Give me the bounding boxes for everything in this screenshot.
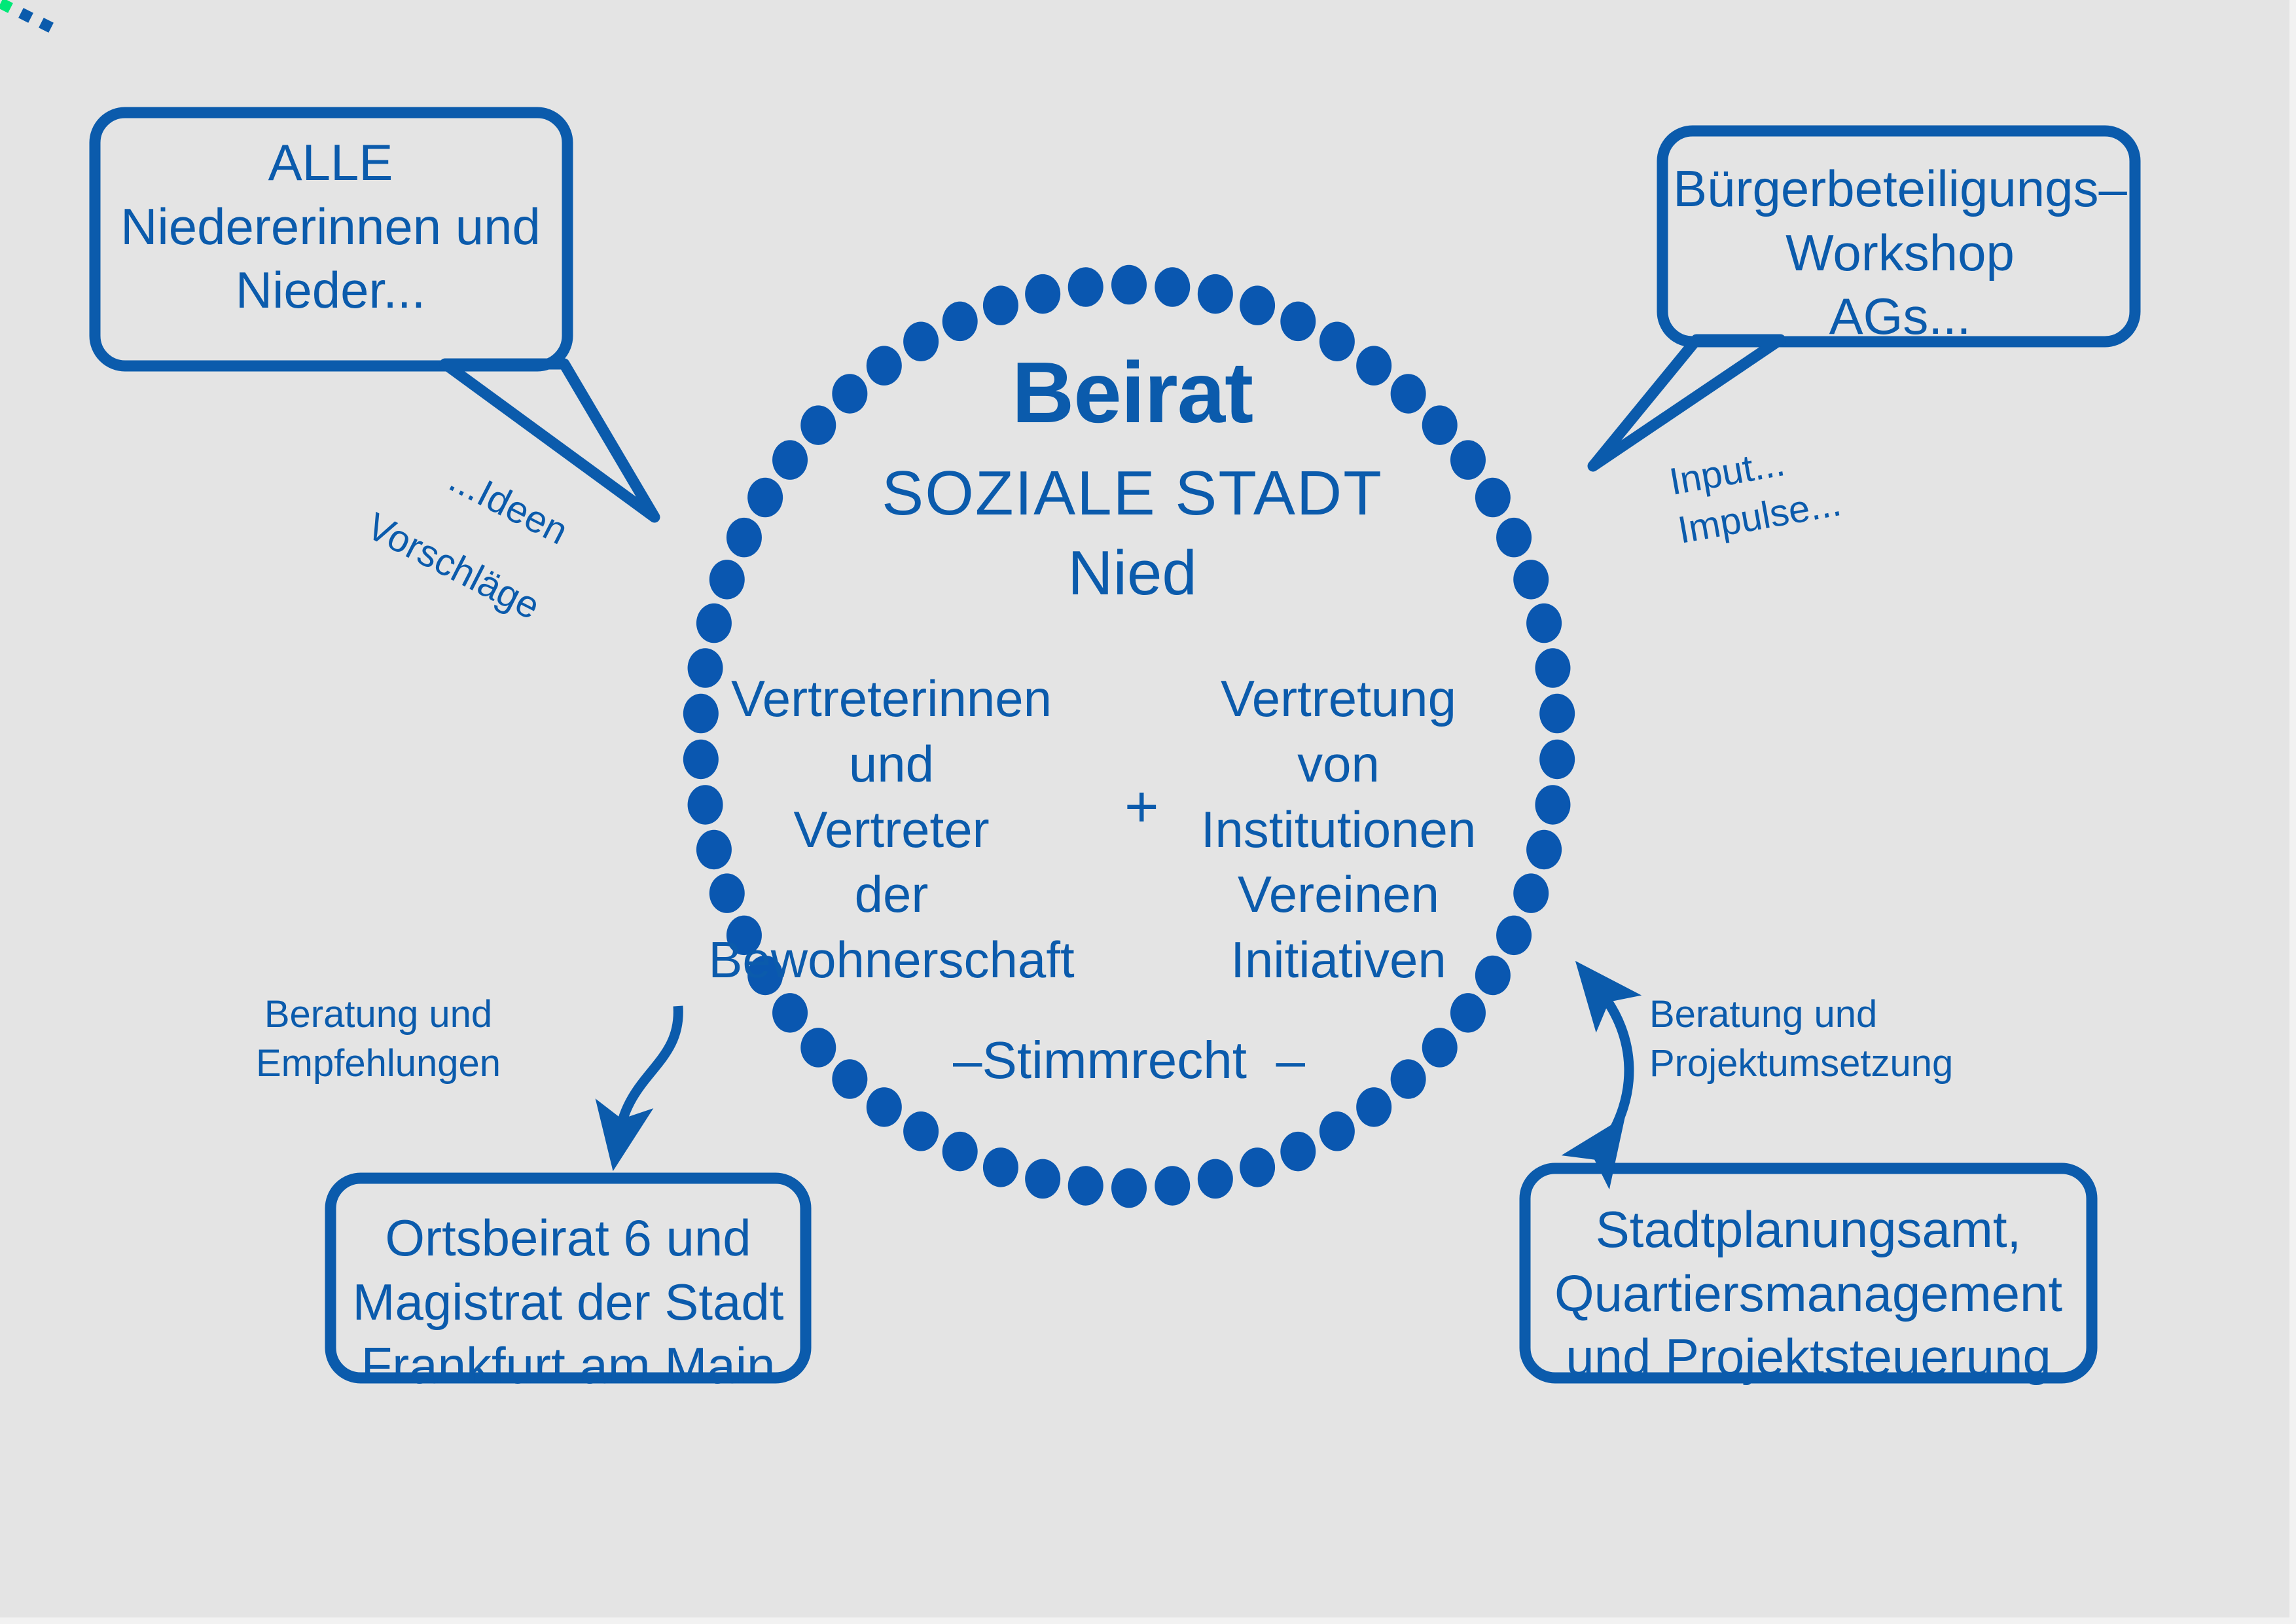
program-subtitle: SOZIALE STADT bbox=[882, 458, 1383, 529]
circle-dot bbox=[1391, 374, 1426, 413]
circle-dot bbox=[1535, 785, 1570, 824]
circle-dot bbox=[1356, 1087, 1391, 1127]
voting-rights-note: –Stimmrecht – bbox=[953, 1031, 1305, 1090]
circle-dot bbox=[726, 518, 762, 557]
circle-dot bbox=[1155, 267, 1190, 306]
plus-sign: + bbox=[1124, 774, 1159, 841]
circle-dot bbox=[1280, 1132, 1316, 1171]
circle-dot bbox=[1240, 285, 1275, 325]
circle-dot bbox=[1319, 321, 1355, 361]
circle-dot bbox=[1535, 648, 1570, 687]
circle-dot bbox=[1025, 274, 1060, 314]
circle-dot bbox=[983, 1147, 1018, 1187]
circle-dot bbox=[1496, 916, 1532, 955]
circle-dot bbox=[772, 993, 808, 1032]
circle-dot bbox=[1539, 740, 1575, 779]
circle-dot bbox=[1496, 518, 1532, 557]
connector-label-beratung-projektumsetzung: Beratung und Projektumsetzung bbox=[1649, 990, 1953, 1089]
circle-dot bbox=[903, 321, 939, 361]
arrow-beratung-projektumsetzung bbox=[1599, 990, 1629, 1147]
circle-dot bbox=[1240, 1147, 1275, 1187]
circle-dot bbox=[1475, 956, 1511, 995]
circle-dot bbox=[1319, 1111, 1355, 1151]
circle-dot bbox=[1526, 830, 1562, 869]
bubble-top-left-label: ALLE Niedererinnen und Nieder... bbox=[120, 131, 541, 323]
circle-dot bbox=[1155, 1166, 1190, 1205]
circle-dot bbox=[903, 1111, 939, 1151]
circle-dot bbox=[800, 405, 836, 444]
page-title: Beirat bbox=[1012, 344, 1253, 441]
circle-dot bbox=[1198, 274, 1233, 314]
circle-dot bbox=[1356, 346, 1391, 385]
arrow-beratung-empfehlungen bbox=[619, 1006, 678, 1134]
circle-dot bbox=[1526, 604, 1562, 643]
district-name: Nied bbox=[1067, 538, 1196, 609]
circle-dot bbox=[696, 604, 732, 643]
circle-dot bbox=[1025, 1159, 1060, 1199]
circle-dot bbox=[942, 302, 978, 341]
box-bottom-right-label: Stadtplanungsamt, Quartiersmanagement un… bbox=[1554, 1198, 2062, 1390]
diagram-canvas: Beirat SOZIALE STADT Nied Vertreterinnen… bbox=[0, 0, 2296, 1624]
circle-dot bbox=[1068, 1166, 1103, 1205]
bubble-top-right-label: Bürgerbeteiligungs– Workshop AGs... bbox=[1673, 157, 2127, 349]
circle-dot bbox=[1513, 873, 1549, 912]
circle-dot bbox=[1280, 302, 1316, 341]
circle-dot bbox=[800, 1028, 836, 1067]
circle-dot bbox=[1450, 440, 1486, 479]
circle-dot bbox=[1450, 993, 1486, 1032]
circle-dot bbox=[1068, 267, 1103, 306]
circle-dot bbox=[1475, 478, 1511, 517]
circle-dot bbox=[1111, 265, 1147, 304]
membership-column-residents: Vertreterinnen und Vertreter der Bewohne… bbox=[708, 666, 1074, 993]
circle-dot bbox=[747, 478, 783, 517]
connector-label-beratung-empfehlungen: Beratung und Empfehlungen bbox=[256, 990, 501, 1089]
circle-dot bbox=[772, 440, 808, 479]
circle-dot bbox=[867, 346, 902, 385]
box-bottom-left-label: Ortsbeirat 6 und Magistrat der Stadt Fra… bbox=[353, 1206, 784, 1398]
circle-dot bbox=[1391, 1059, 1426, 1098]
circle-dot bbox=[942, 1132, 978, 1171]
circle-dot bbox=[1539, 694, 1575, 733]
circle-dot bbox=[983, 285, 1018, 325]
circle-dot bbox=[709, 560, 745, 599]
membership-column-institutions: Vertretung von Institutionen Vereinen In… bbox=[1201, 666, 1477, 993]
circle-dot bbox=[832, 1059, 867, 1098]
circle-dot bbox=[832, 374, 867, 413]
circle-dot bbox=[867, 1087, 902, 1127]
circle-dot bbox=[1111, 1168, 1147, 1208]
circle-dot bbox=[1422, 405, 1458, 444]
circle-dot bbox=[1422, 1028, 1458, 1067]
circle-dot bbox=[1198, 1159, 1233, 1199]
circle-dot bbox=[1513, 560, 1549, 599]
